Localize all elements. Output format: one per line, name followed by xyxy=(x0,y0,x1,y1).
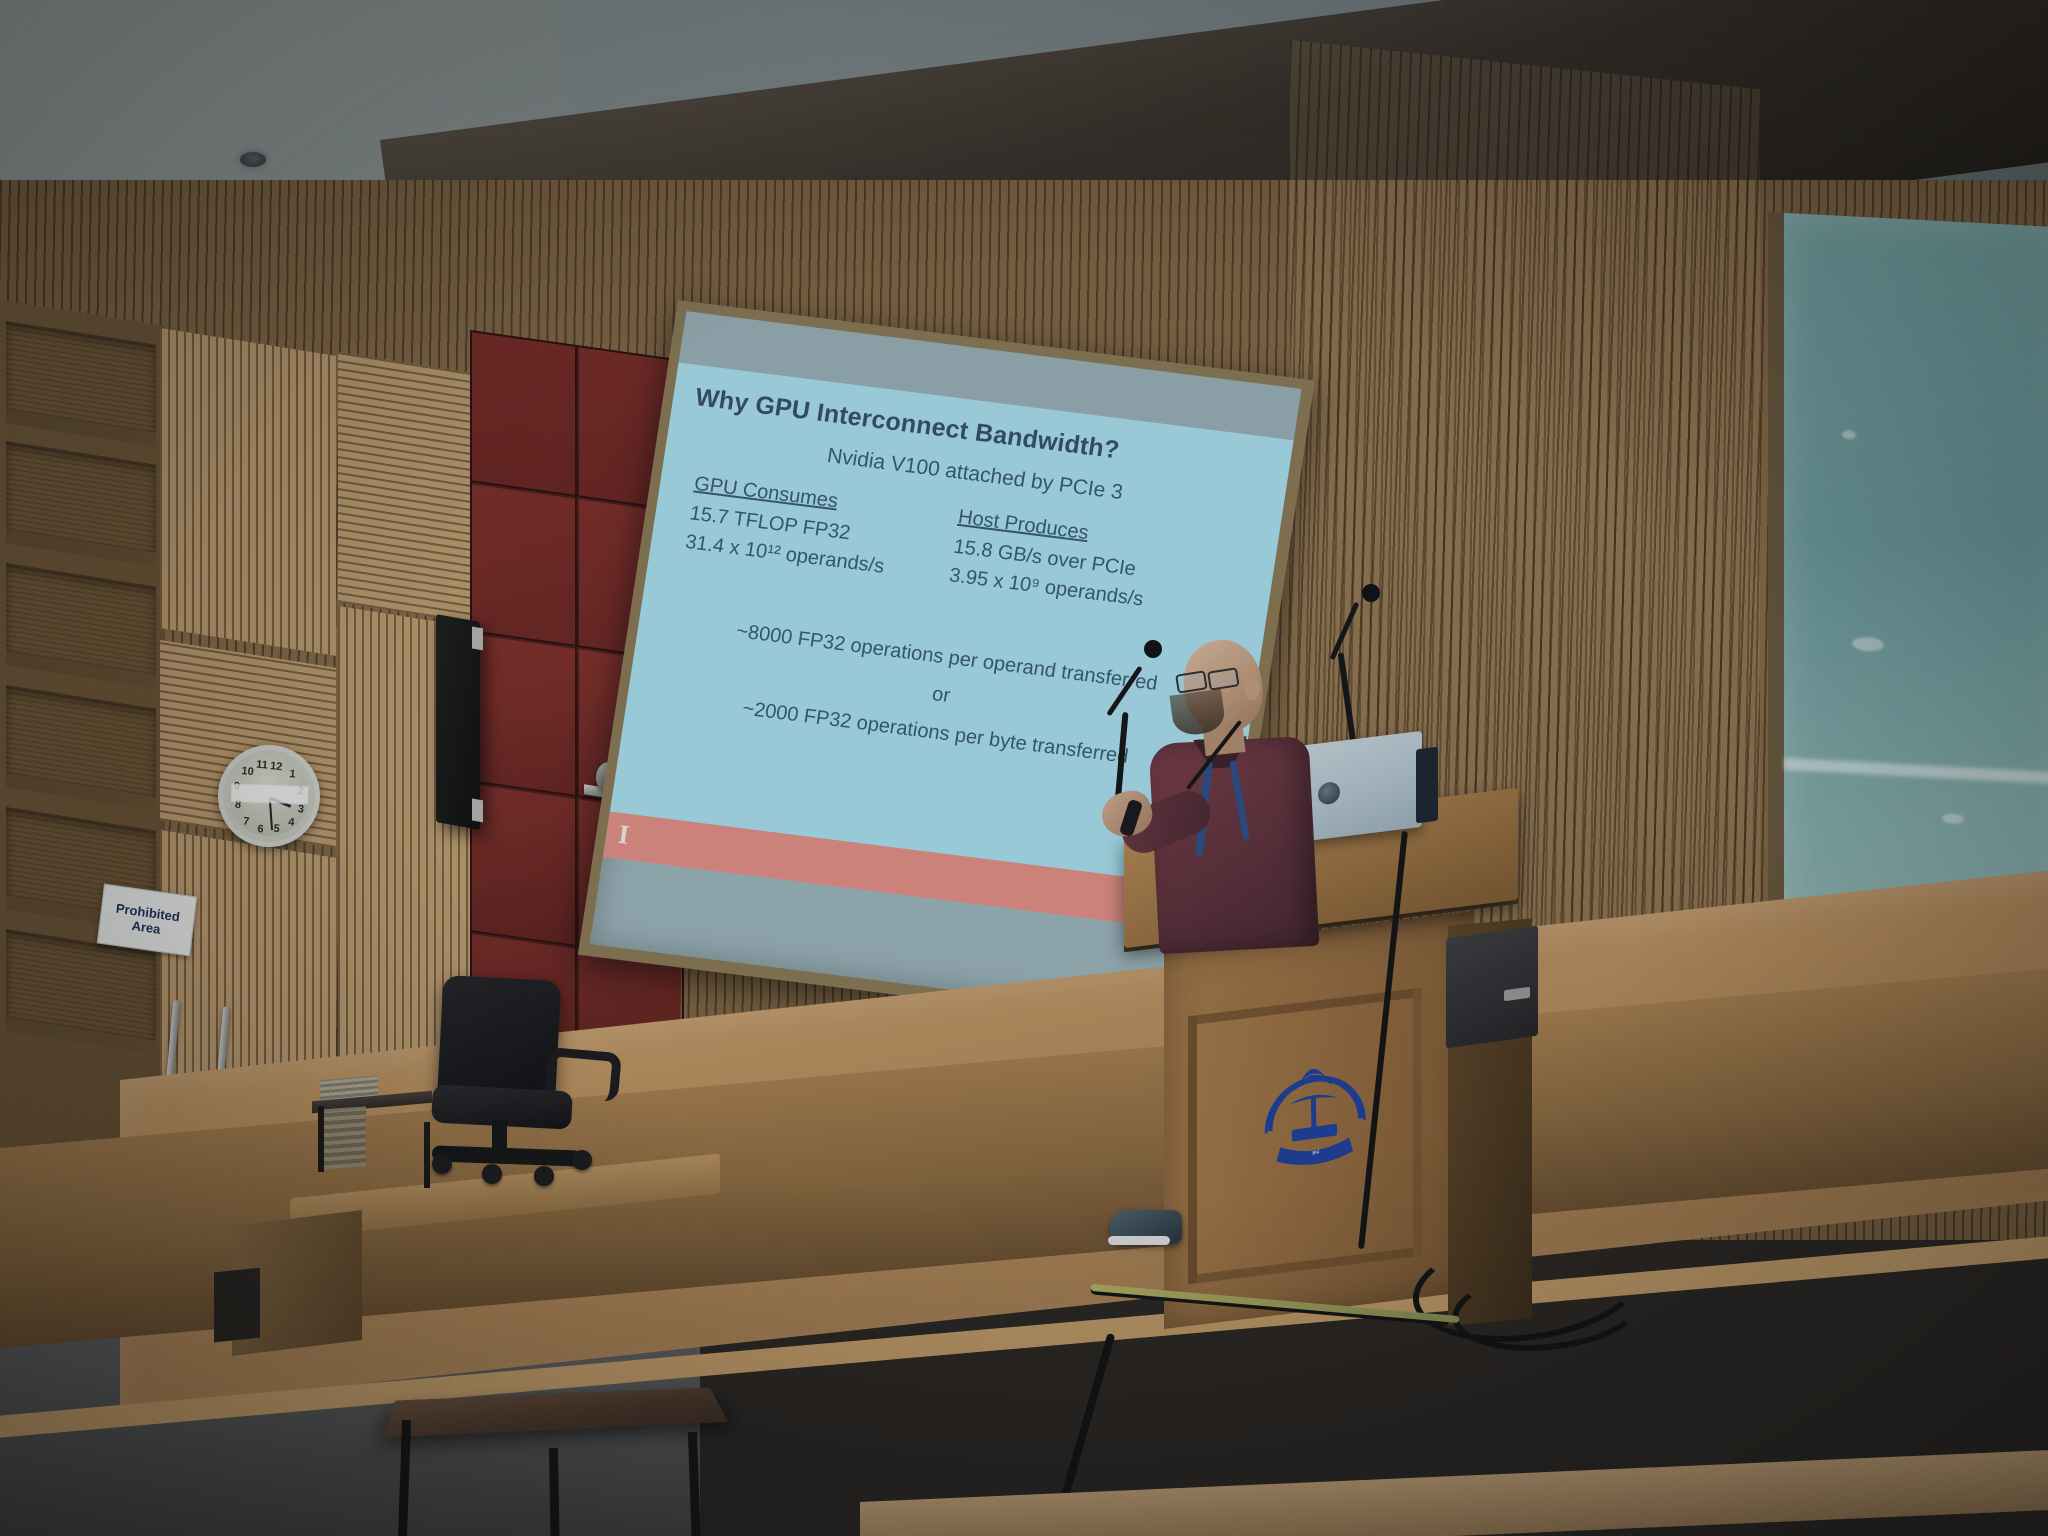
woven-basket xyxy=(318,1106,366,1169)
illinois-logo: I xyxy=(616,819,631,851)
foreground-bench xyxy=(860,1450,2048,1536)
clock-numeral: 3 xyxy=(297,803,304,816)
chair-caster xyxy=(432,1154,452,1174)
side-table-leg xyxy=(318,1106,324,1172)
clock-numeral: 5 xyxy=(273,823,280,836)
emblem-motto: ज्ञानं xyxy=(1312,1149,1320,1157)
clock-numeral: 7 xyxy=(243,815,250,828)
clock-numeral: 12 xyxy=(270,760,283,773)
presenter xyxy=(1108,640,1348,1070)
chair-caster xyxy=(534,1166,554,1186)
wall-speaker-icon xyxy=(436,614,480,830)
floor-vent-box xyxy=(214,1268,260,1343)
slide-column-host: Host Produces 15.8 GB/s over PCIe 3.95 x… xyxy=(947,503,1154,614)
slide-column-gpu: GPU Consumes 15.7 TFLOP FP32 31.4 x 10¹²… xyxy=(683,470,895,581)
microphone-capsule-icon xyxy=(1362,584,1380,602)
chair-caster xyxy=(482,1164,502,1184)
clock-numeral: 4 xyxy=(288,816,295,829)
presenter-ear xyxy=(1244,678,1260,700)
chair-caster xyxy=(572,1150,592,1170)
sign-line-2: Area xyxy=(131,918,162,937)
wood-panel xyxy=(160,328,336,656)
clock-numeral: 11 xyxy=(256,759,269,772)
podium-equipment-rack xyxy=(1446,926,1538,1049)
side-table-leg xyxy=(424,1122,430,1188)
downlight-icon xyxy=(240,152,266,167)
clock-numeral: 10 xyxy=(241,765,254,778)
wood-panel xyxy=(338,352,470,623)
clock-numeral: 1 xyxy=(289,768,296,781)
podium-device-slot[interactable] xyxy=(1504,987,1530,1002)
lecture-hall-photo: Why GPU Interconnect Bandwidth? Nvidia V… xyxy=(0,0,2048,1536)
clock-face: 12 1 2 3 4 5 6 7 8 9 10 11 xyxy=(225,752,313,840)
clock-glass-glare xyxy=(231,784,308,805)
clock-numeral: 6 xyxy=(257,823,264,836)
presenter-shoe-sole xyxy=(1108,1236,1170,1245)
prohibited-area-sign: Prohibited Area xyxy=(97,884,197,957)
laptop-cable-connector xyxy=(1416,747,1438,824)
